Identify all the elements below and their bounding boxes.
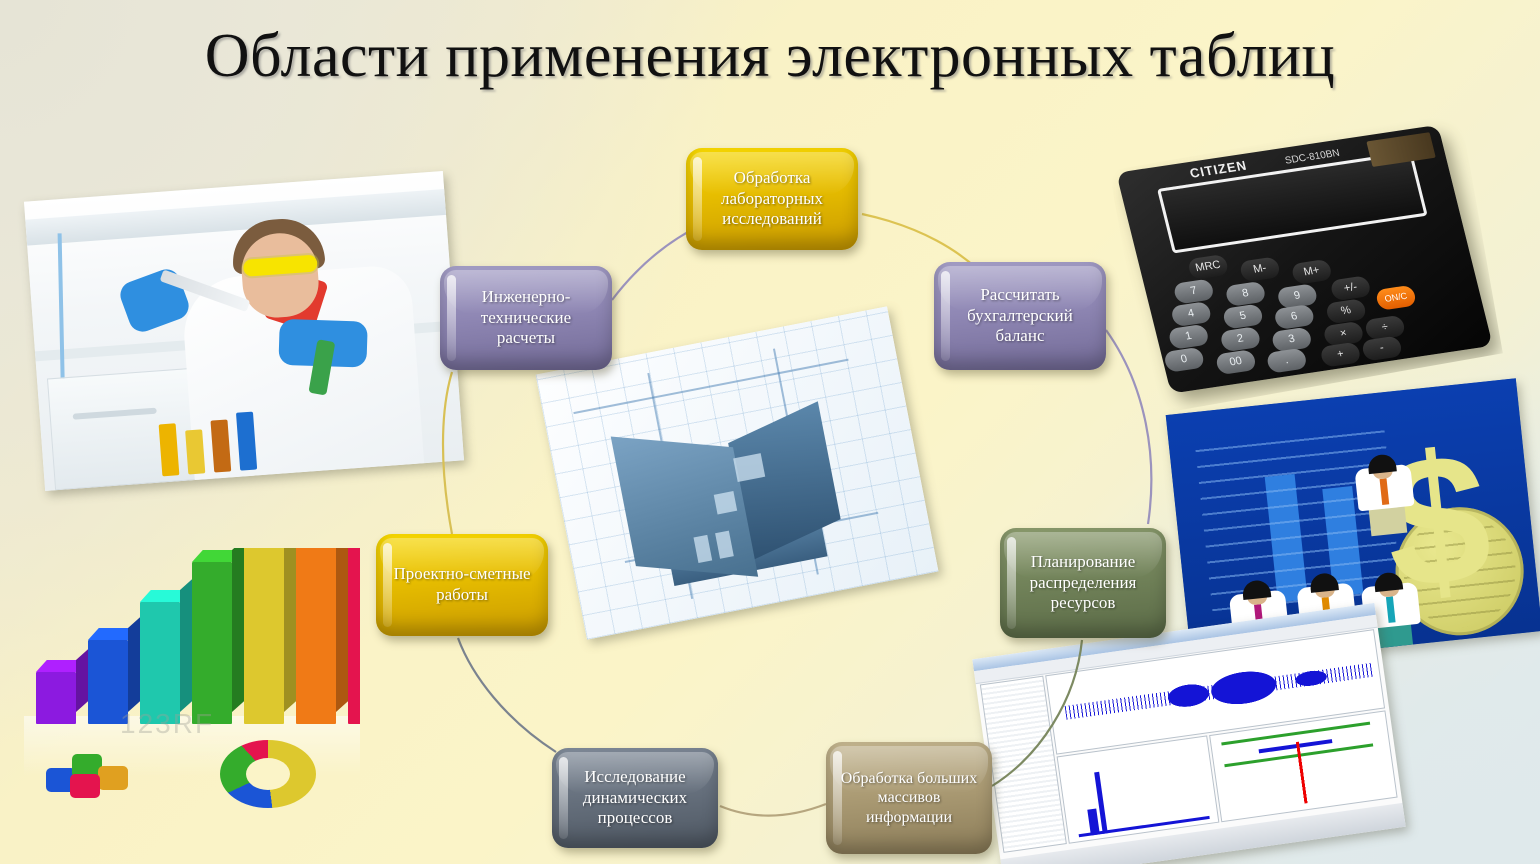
calculator-body: CITIZEN SDC-810BN 10-DIGIT 2 POWER MRC M… [1116,125,1493,394]
signal-spectrum-panel [1057,735,1220,843]
calculator-image: CITIZEN SDC-810BN 10-DIGIT 2 POWER MRC M… [1109,109,1503,415]
node-resource-planning-label: Планирование распределения ресурсов [1012,552,1154,614]
bar-chart-bar [36,672,76,724]
node-accounting-balance[interactable]: Рассчитать бухгалтерский баланс [934,262,1106,370]
lab-photo [24,171,464,491]
puzzle-pieces-icon [46,746,142,798]
calculator-key-minus: - [1361,335,1404,361]
calculator-key-0: 0 [1163,347,1206,373]
calculator-key-m-minus: M- [1239,256,1282,282]
calculator-key-percent: % [1325,298,1368,324]
node-big-data-processing[interactable]: Обработка больших массивов информации [826,742,992,854]
donut-chart-icon [220,740,316,808]
node-dynamic-processes[interactable]: Исследование динамических процессов [552,748,718,848]
calculator-key-m-plus: M+ [1290,259,1333,285]
calculator-key-plus: + [1319,342,1362,368]
bar-chart-bar [244,548,284,724]
bar-chart-3d-image: 123RF [24,548,360,836]
calculator-key-4: 4 [1170,301,1213,327]
node-resource-planning[interactable]: Планирование распределения ресурсов [1000,528,1166,638]
calculator-key-7: 7 [1172,278,1215,304]
bar-chart-watermark: 123RF [120,708,214,740]
node-dynamic-processes-label: Исследование динамических процессов [564,767,706,829]
node-big-data-processing-label: Обработка больших массивов информации [838,769,980,828]
calculator-solar-panel [1366,132,1435,167]
node-lab-research-label: Обработка лабораторных исследований [698,168,846,230]
presentation-slide: Области применения электронных таблиц CI… [0,0,1540,864]
calculator-key-6: 6 [1273,304,1316,330]
calculator-key-onc: ON/C [1375,285,1418,311]
node-design-estimate-work[interactable]: Проектно-сметные работы [376,534,548,636]
calculator-key-plus-minus: +/- [1329,275,1372,301]
node-accounting-balance-label: Рассчитать бухгалтерский баланс [946,285,1094,347]
calculator-key-mrc: MRC [1187,254,1230,280]
node-lab-research[interactable]: Обработка лабораторных исследований [686,148,858,250]
calculator-key-8: 8 [1224,281,1267,307]
calculator-key-1: 1 [1167,324,1210,350]
node-design-estimate-work-label: Проектно-сметные работы [388,564,536,605]
node-engineering-calculations-label: Инженерно-технические расчеты [452,287,600,349]
slide-title: Области применения электронных таблиц [0,24,1540,89]
bar-chart-bar [296,548,336,724]
node-engineering-calculations[interactable]: Инженерно-технические расчеты [440,266,612,370]
bar-chart-bar [348,548,360,724]
house-window [714,491,737,514]
lab-test-tube-rack [158,402,279,476]
calculator-key-2: 2 [1219,326,1262,352]
bar-chart-bar [140,602,180,724]
signal-software-image [972,603,1406,864]
bar-chart-bar [192,562,232,724]
business-person [1353,446,1418,537]
calculator-key-double-zero: 00 [1215,349,1258,375]
calculator-key-decimal: . [1265,348,1308,374]
calculator-key-5: 5 [1222,303,1265,329]
